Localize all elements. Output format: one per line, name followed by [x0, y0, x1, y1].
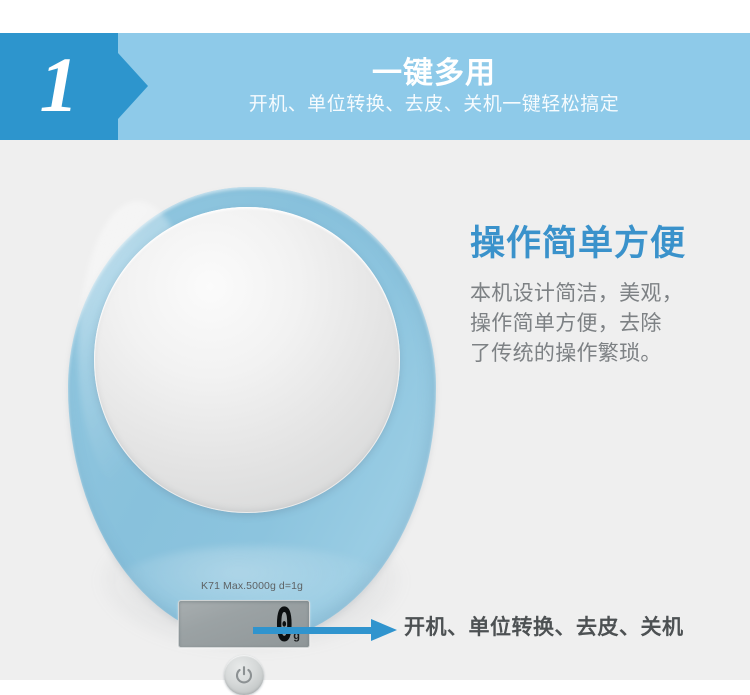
feature-banner: 1 一键多用 开机、单位转换、去皮、关机一键轻松搞定 [0, 33, 750, 140]
product-image-kitchen-scale: K71 Max.5000g d=1g 0 g [62, 185, 442, 655]
arrow-shaft [253, 627, 373, 634]
feature-description: 本机设计简洁，美观， 操作简单方便，去除 了传统的操作繁琐。 [470, 279, 740, 370]
banner-title: 一键多用 [372, 56, 496, 91]
banner-text-group: 一键多用 开机、单位转换、去皮、关机一键轻松搞定 [118, 33, 750, 140]
feature-description-line: 了传统的操作繁琐。 [470, 339, 740, 369]
feature-description-line: 操作简单方便，去除 [470, 309, 740, 339]
feature-text-block: 操作简单方便 本机设计简洁，美观， 操作简单方便，去除 了传统的操作繁琐。 [470, 224, 740, 370]
banner-subtitle: 开机、单位转换、去皮、关机一键轻松搞定 [249, 94, 620, 117]
feature-heading: 操作简单方便 [470, 224, 740, 265]
content-area: K71 Max.5000g d=1g 0 g 开机 [0, 140, 750, 680]
product-feature-page: 1 一键多用 开机、单位转换、去皮、关机一键轻松搞定 K71 Max.5000g… [0, 0, 750, 680]
power-button[interactable] [224, 655, 264, 695]
scale-platform-rim [94, 207, 400, 513]
feature-description-line: 本机设计简洁，美观， [470, 279, 740, 309]
arrow-head [371, 619, 397, 641]
power-icon [234, 665, 254, 685]
right-arrow-icon [253, 619, 401, 641]
callout-label: 开机、单位转换、去皮、关机 [404, 615, 684, 640]
step-number-label: 1 [0, 33, 118, 140]
scale-weighing-platform [94, 207, 400, 513]
scale-spec-label: K71 Max.5000g d=1g [68, 580, 436, 592]
